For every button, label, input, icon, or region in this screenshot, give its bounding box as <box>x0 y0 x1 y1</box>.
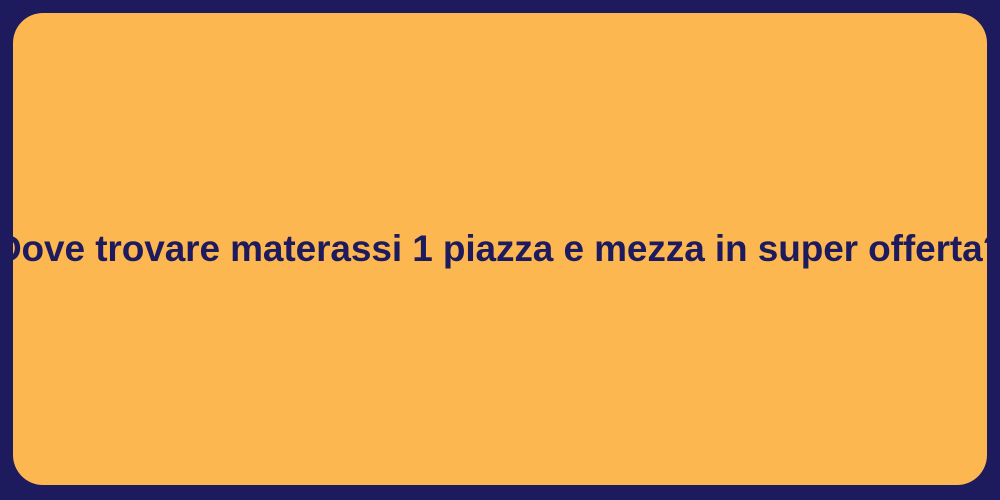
banner-frame: Dove trovare materassi 1 piazza e mezza … <box>0 0 1000 500</box>
headline-container: Dove trovare materassi 1 piazza e mezza … <box>13 13 987 485</box>
banner-card: Dove trovare materassi 1 piazza e mezza … <box>13 13 987 485</box>
banner-headline: Dove trovare materassi 1 piazza e mezza … <box>0 226 1000 272</box>
